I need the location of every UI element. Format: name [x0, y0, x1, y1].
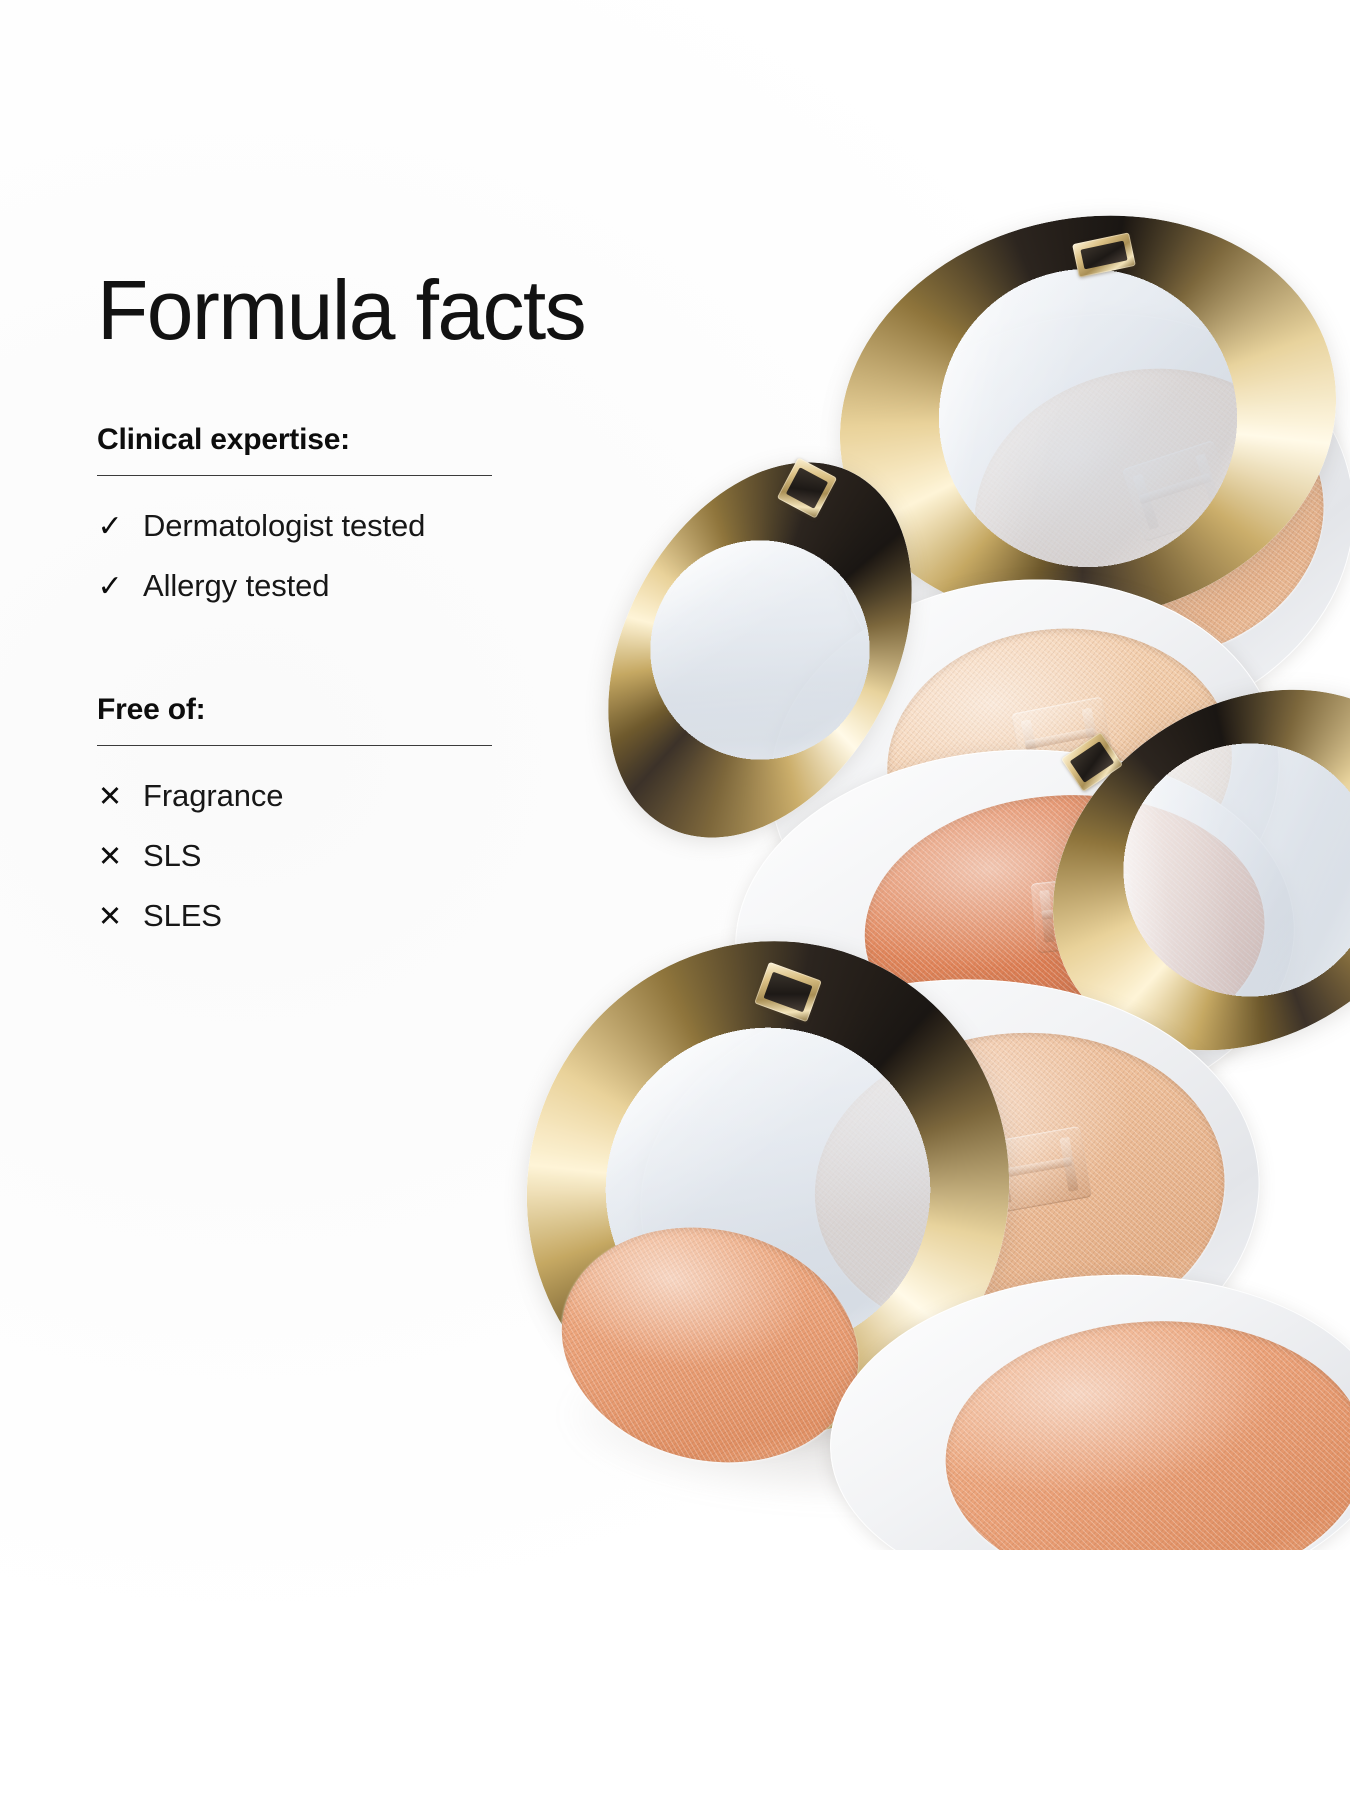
- fact-list-free-of: ✕ Fragrance ✕ SLS ✕ SLES: [97, 774, 657, 938]
- page-title: Formula facts: [97, 268, 657, 352]
- list-item: ✓ Allergy tested: [97, 564, 657, 608]
- section-heading-free-of: Free of:: [97, 692, 657, 728]
- check-icon: ✓: [97, 572, 123, 602]
- fact-label: Dermatologist tested: [143, 504, 657, 548]
- cross-icon: ✕: [97, 903, 123, 932]
- fact-label: Fragrance: [143, 774, 657, 818]
- section-rule-clinical-expertise: [97, 475, 492, 476]
- list-item: ✓ Dermatologist tested: [97, 504, 657, 548]
- list-item: ✕ Fragrance: [97, 774, 657, 818]
- formula-facts-text-panel: Formula facts Clinical expertise: ✓ Derm…: [97, 268, 657, 938]
- compact-bottom-right-pan: [941, 1314, 1350, 1550]
- section-rule-free-of: [97, 745, 492, 746]
- fact-list-clinical-expertise: ✓ Dermatologist tested ✓ Allergy tested: [97, 504, 657, 608]
- fact-label: Allergy tested: [143, 564, 657, 608]
- check-icon: ✓: [97, 512, 123, 542]
- cross-icon: ✕: [97, 783, 123, 812]
- formula-facts-page: Formula facts Clinical expertise: ✓ Derm…: [0, 0, 1350, 1800]
- fact-label: SLS: [143, 834, 657, 878]
- section-clinical-expertise: Clinical expertise: ✓ Dermatologist test…: [97, 422, 657, 608]
- section-free-of: Free of: ✕ Fragrance ✕ SLS ✕ SLES: [97, 692, 657, 938]
- cross-icon: ✕: [97, 843, 123, 872]
- list-item: ✕ SLES: [97, 894, 657, 938]
- list-item: ✕ SLS: [97, 834, 657, 878]
- fact-label: SLES: [143, 894, 657, 938]
- section-heading-clinical-expertise: Clinical expertise:: [97, 422, 657, 458]
